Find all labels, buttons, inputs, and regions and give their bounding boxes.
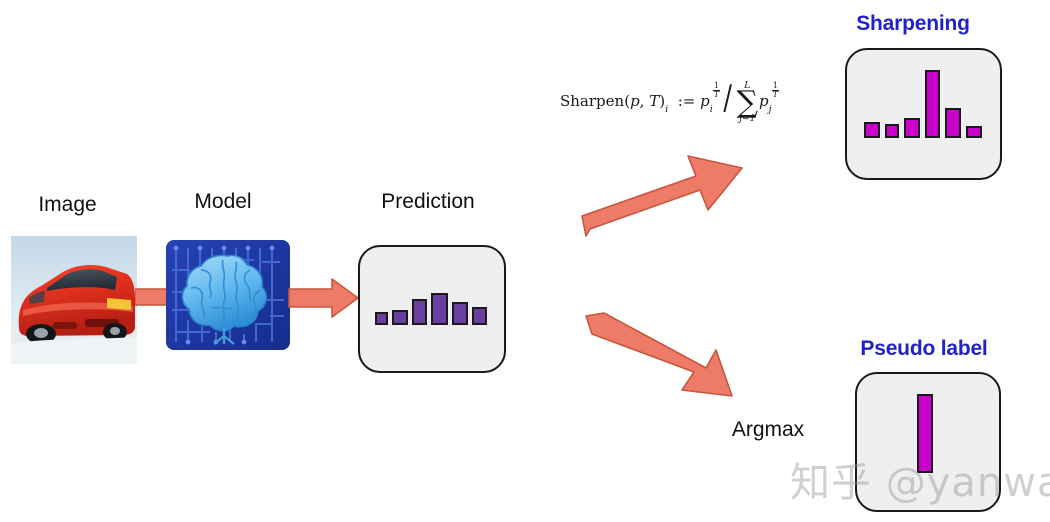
pseudo-label-heading: Pseudo label bbox=[836, 337, 1012, 361]
formula-sum-lower: j=1 bbox=[737, 115, 758, 124]
input-image-car bbox=[11, 236, 137, 364]
formula-numer-exponent: 1T bbox=[713, 82, 720, 100]
sharpened-bar-2 bbox=[885, 124, 899, 138]
model-brain-icon bbox=[166, 240, 290, 350]
sharpening-heading: Sharpening bbox=[828, 12, 998, 36]
prediction-bar-2 bbox=[392, 310, 407, 325]
prediction-label: Prediction bbox=[348, 190, 508, 214]
sharpened-bar-3 bbox=[904, 118, 920, 138]
formula-summation: L∑j=1 bbox=[737, 82, 758, 125]
formula-numer-base: p bbox=[700, 92, 710, 110]
model-label: Model bbox=[163, 190, 283, 214]
formula-arg-p: p bbox=[630, 92, 640, 110]
diagram-canvas: Image bbox=[0, 0, 1050, 522]
image-label: Image bbox=[10, 193, 125, 217]
sharpened-bar-6 bbox=[966, 126, 982, 138]
formula-fn-name: Sharpen bbox=[560, 92, 624, 110]
sharpen-formula: Sharpen(p, T)i := pi1T/L∑j=1pj1T bbox=[560, 78, 779, 123]
prediction-bar-4 bbox=[431, 293, 448, 325]
arrow-model-to-prediction bbox=[288, 276, 360, 320]
formula-numer-sub: i bbox=[710, 104, 713, 115]
arrow-to-pseudo-label bbox=[582, 312, 752, 404]
formula-index-i: i bbox=[665, 104, 668, 115]
formula-assign: := bbox=[678, 92, 696, 110]
argmax-label: Argmax bbox=[708, 418, 828, 442]
formula-arg-T: T bbox=[649, 92, 659, 110]
prediction-bar-3 bbox=[412, 299, 427, 325]
sharpened-histogram bbox=[864, 68, 982, 138]
sharpened-bar-1 bbox=[864, 122, 880, 138]
formula-slash: / bbox=[722, 81, 734, 115]
prediction-bar-5 bbox=[452, 302, 467, 325]
formula-comma: , bbox=[640, 92, 645, 110]
formula-denom-exp-den: T bbox=[772, 91, 779, 99]
formula-denom-sub: j bbox=[769, 104, 772, 115]
formula-sum-symbol: ∑ bbox=[737, 91, 758, 116]
prediction-bar-6 bbox=[472, 307, 487, 325]
sharpened-bar-5 bbox=[945, 108, 961, 138]
arrow-to-sharpening bbox=[580, 148, 750, 238]
car-illustration bbox=[11, 236, 137, 364]
formula-denom-base: p bbox=[759, 92, 769, 110]
sharpened-bar-4 bbox=[925, 70, 941, 138]
pseudo-label-bar-4 bbox=[917, 394, 933, 473]
formula-denom-exponent: 1T bbox=[772, 82, 779, 100]
prediction-histogram bbox=[375, 285, 487, 325]
pseudo-label-histogram bbox=[917, 394, 933, 473]
prediction-bar-1 bbox=[375, 312, 388, 325]
formula-numer-exp-den: T bbox=[713, 91, 720, 99]
